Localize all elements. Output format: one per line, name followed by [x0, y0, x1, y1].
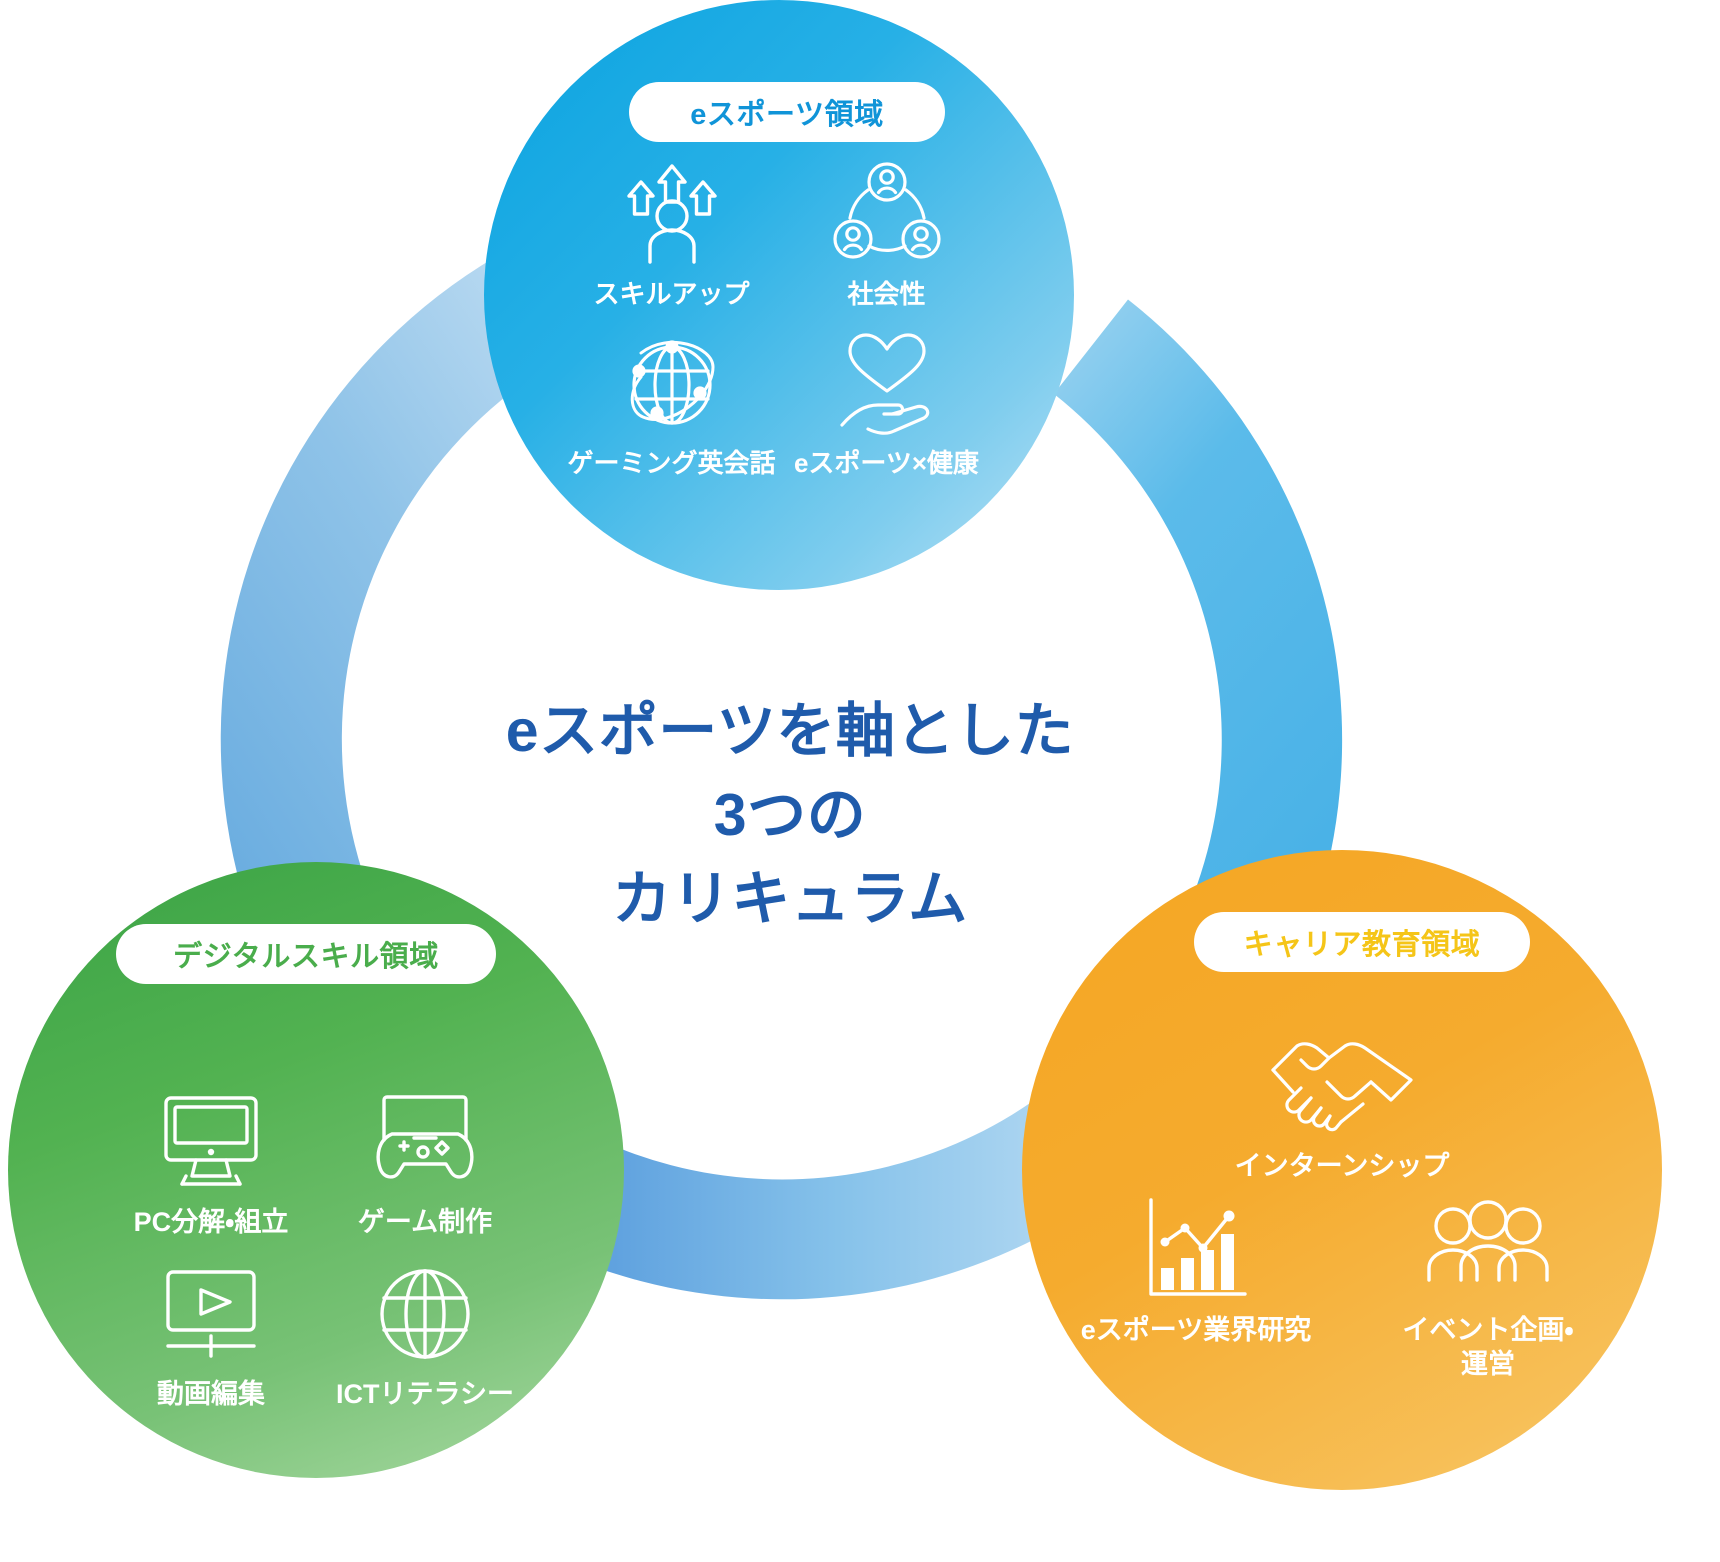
item-video-editing: 動画編集: [104, 1262, 318, 1412]
item-label: eスポーツ業界研究: [1081, 1314, 1311, 1348]
item-social: 社会性: [779, 160, 994, 311]
item-label: イベント企画・ 運営: [1402, 1314, 1573, 1382]
center-title-line-1: eスポーツを軸とした: [430, 690, 1150, 774]
globe-network-icon: [617, 329, 727, 437]
item-label: ゲーム制作: [358, 1206, 492, 1240]
item-game-creation: ゲーム制作: [318, 1090, 532, 1240]
video-play-timeline-icon: [156, 1262, 266, 1366]
people-network-icon: [832, 160, 942, 268]
icon-grid-esports: スキルアップ: [564, 160, 994, 479]
item-label: ICTリテラシー: [336, 1378, 514, 1412]
item-industry-research: eスポーツ業界研究: [1050, 1194, 1342, 1382]
item-event-planning: イベント企画・ 運営: [1342, 1194, 1634, 1382]
center-title: eスポーツを軸とした 3つの カリキュラム: [430, 690, 1150, 941]
curriculum-diagram: eスポーツ領域 スキルアップ: [0, 0, 1720, 1562]
domain-circle-esports: eスポーツ領域 スキルアップ: [484, 0, 1074, 590]
center-title-line-2: 3つの: [430, 774, 1150, 858]
icon-grid-career: インターンシップ: [1050, 1030, 1634, 1381]
item-ict-literacy: ICTリテラシー: [318, 1262, 532, 1412]
item-label: スキルアップ: [593, 278, 749, 311]
domain-badge-esports: eスポーツ領域: [629, 82, 945, 142]
center-title-line-3: カリキュラム: [430, 858, 1150, 942]
item-skill-up: スキルアップ: [564, 160, 779, 311]
item-label: インターンシップ: [1235, 1150, 1450, 1184]
game-controller-icon: [370, 1090, 480, 1194]
domain-circle-career: キャリア教育領域 インターンシップ: [1022, 850, 1662, 1490]
item-label: 動画編集: [157, 1378, 265, 1412]
domain-circle-digital: デジタルスキル領域 PC分解・組立: [8, 862, 624, 1478]
globe-grid-icon: [370, 1262, 480, 1366]
item-esports-health: eスポーツ×健康: [779, 329, 994, 480]
heart-in-hand-icon: [832, 329, 942, 437]
item-label: 社会性: [847, 278, 925, 311]
item-label: PC分解・組立: [134, 1206, 289, 1240]
person-up-arrows-icon: [617, 160, 727, 268]
item-gaming-english: ゲーミング英会話: [564, 329, 779, 480]
item-internship: インターンシップ: [1050, 1030, 1634, 1184]
handshake-icon: [1267, 1030, 1417, 1140]
bar-line-chart-icon: [1141, 1194, 1251, 1304]
people-group-icon: [1423, 1194, 1553, 1304]
career-second-row: eスポーツ業界研究 イベント企画・ 運営: [1050, 1194, 1634, 1382]
domain-badge-career: キャリア教育領域: [1194, 912, 1530, 972]
icon-grid-digital: PC分解・組立 ゲーム制作: [104, 1090, 532, 1412]
item-label: ゲーミング英会話: [567, 447, 775, 480]
desktop-monitor-icon: [156, 1090, 266, 1194]
item-label: eスポーツ×健康: [794, 447, 979, 480]
item-pc-assembly: PC分解・組立: [104, 1090, 318, 1240]
